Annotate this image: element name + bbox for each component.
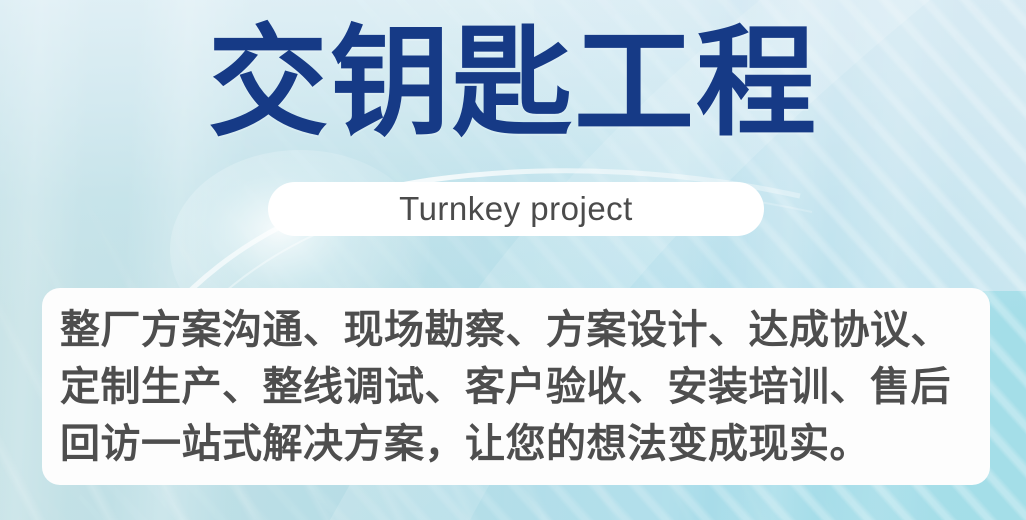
page-title: 交钥匙工程 (0, 16, 1026, 150)
subtitle-label: Turnkey project (399, 190, 633, 228)
turnkey-project-banner: 交钥匙工程 Turnkey project 整厂方案沟通、现场勘察、方案设计、达… (0, 0, 1026, 520)
subtitle-pill: Turnkey project (268, 182, 764, 236)
description-card: 整厂方案沟通、现场勘察、方案设计、达成协议、 定制生产、整线调试、客户验收、安装… (42, 288, 990, 485)
description-line-1: 整厂方案沟通、现场勘察、方案设计、达成协议、 (60, 302, 972, 359)
description-line-3: 回访一站式解决方案，让您的想法变成现实。 (60, 416, 972, 473)
description-line-2: 定制生产、整线调试、客户验收、安装培训、售后 (60, 359, 972, 416)
description-text: 整厂方案沟通、现场勘察、方案设计、达成协议、 定制生产、整线调试、客户验收、安装… (60, 302, 972, 473)
